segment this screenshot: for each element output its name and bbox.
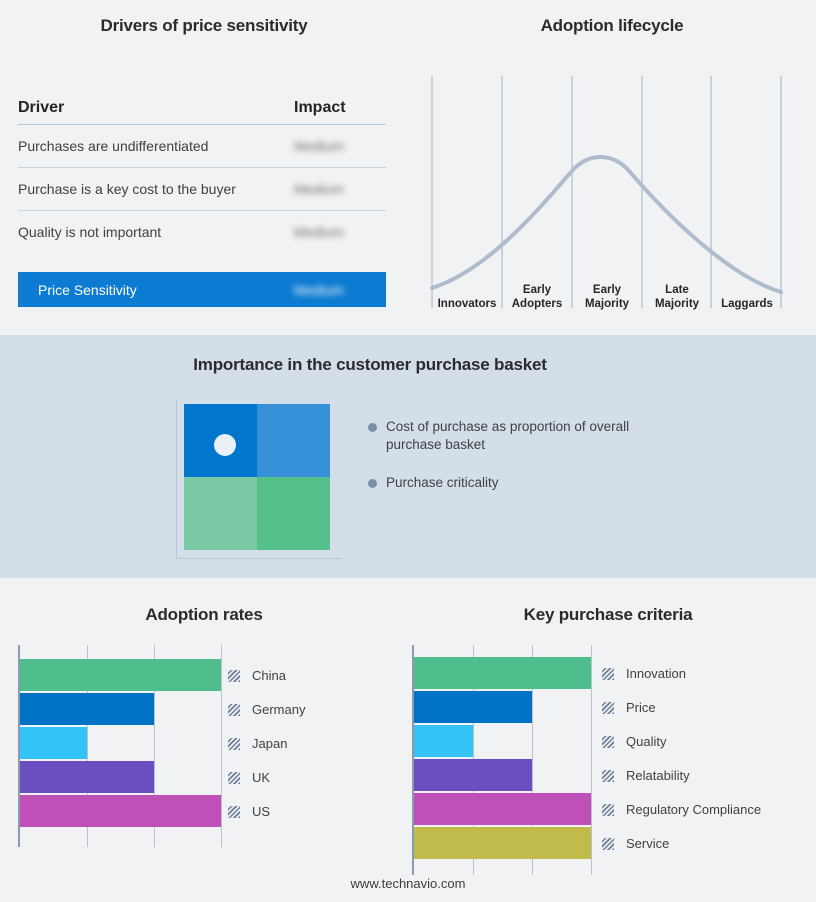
hatched-swatch-icon: [228, 670, 240, 682]
stage-line-2: Innovators: [432, 298, 502, 312]
lifecycle-stage-labels: Innovators Early Adopters Early Majority…: [432, 278, 782, 312]
bullet-dot-icon: [368, 423, 377, 432]
table-row: Purchase is a key cost to the buyer Medi…: [18, 168, 386, 211]
legend-item-label: Germany: [252, 702, 305, 717]
legend-item-label: Regulatory Compliance: [626, 802, 761, 817]
highlight-row-label: Price Sensitivity: [18, 282, 294, 298]
legend-item: Japan: [228, 736, 287, 751]
key-purchase-criteria-chart: InnovationPriceQualityRelatabilityRegula…: [412, 645, 812, 860]
legend-item-label: Quality: [626, 734, 666, 749]
key-purchase-criteria-title: Key purchase criteria: [400, 605, 816, 625]
chart-bar: [414, 827, 591, 859]
matrix-quadrant-bottom-left: [184, 477, 257, 550]
lifecycle-gridlines: [432, 76, 781, 308]
table-row: Quality is not important Medium: [18, 211, 386, 253]
legend-item: Purchase criticality: [368, 474, 658, 492]
legend-item-label: Relatability: [626, 768, 690, 783]
matrix-quadrant-grid: [184, 404, 330, 550]
adoption-rates-plot-area: [18, 645, 220, 860]
hatched-swatch-icon: [602, 736, 614, 748]
highlight-row-impact: Medium: [294, 282, 386, 298]
impact-value: Medium: [294, 224, 386, 240]
stage-line-2: Majority: [642, 298, 712, 312]
adoption-lifecycle-curve-chart: [408, 60, 816, 315]
chart-bar: [414, 657, 591, 689]
lifecycle-stage-early-adopters: Early Adopters: [502, 278, 572, 312]
bullet-dot-icon: [368, 479, 377, 488]
legend-item: Service: [602, 836, 669, 851]
chart-bar: [414, 691, 532, 723]
legend-item-label: China: [252, 668, 286, 683]
driver-label: Quality is not important: [18, 224, 294, 240]
legend-item: China: [228, 668, 286, 683]
legend-item-label: Service: [626, 836, 669, 851]
driver-label: Purchase is a key cost to the buyer: [18, 181, 294, 197]
matrix-position-marker: [214, 434, 236, 456]
hatched-swatch-icon: [228, 704, 240, 716]
footer-url: www.technavio.com: [0, 876, 816, 891]
legend-item-label: Innovation: [626, 666, 686, 681]
stage-line-2: Adopters: [502, 298, 572, 312]
stage-line-1: Early: [572, 284, 642, 298]
legend-item-label: Price: [626, 700, 656, 715]
chart-gridline: [221, 645, 222, 847]
lifecycle-stage-laggards: Laggards: [712, 278, 782, 312]
legend-item: Relatability: [602, 768, 690, 783]
table-row: Purchases are undifferentiated Medium: [18, 125, 386, 168]
stage-line-1: Early: [502, 284, 572, 298]
matrix-x-axis: [176, 558, 342, 559]
lifecycle-panel-title: Adoption lifecycle: [408, 16, 816, 36]
bell-curve-path: [432, 157, 781, 292]
driver-label: Purchases are undifferentiated: [18, 138, 294, 154]
chart-bar: [414, 725, 473, 757]
impact-value: Medium: [294, 181, 386, 197]
chart-bar: [20, 795, 221, 827]
infographic-page: Drivers of price sensitivity Driver Impa…: [0, 0, 816, 902]
matrix-quadrant-top-right: [257, 404, 330, 477]
matrix-quadrant-bottom-right: [257, 477, 330, 550]
legend-item: Price: [602, 700, 656, 715]
chart-bar: [20, 693, 154, 725]
legend-item-label: US: [252, 804, 270, 819]
chart-bar: [20, 761, 154, 793]
stage-line-2: Laggards: [712, 298, 782, 312]
legend-item: Innovation: [602, 666, 686, 681]
hatched-swatch-icon: [602, 702, 614, 714]
hatched-swatch-icon: [602, 770, 614, 782]
impact-value: Medium: [294, 138, 386, 154]
table-header-row: Driver Impact: [18, 92, 386, 125]
legend-item-label: Purchase criticality: [386, 474, 499, 492]
lifecycle-stage-late-majority: Late Majority: [642, 278, 712, 312]
hatched-swatch-icon: [602, 804, 614, 816]
legend-item: Quality: [602, 734, 666, 749]
key-purchase-criteria-plot-area: [412, 645, 592, 860]
matrix-panel-title: Importance in the customer purchase bask…: [0, 355, 740, 375]
legend-item: Regulatory Compliance: [602, 802, 761, 817]
chart-bar: [20, 727, 87, 759]
column-header-driver: Driver: [18, 99, 294, 117]
price-sensitivity-highlight-row: Price Sensitivity Medium: [18, 272, 386, 307]
chart-bar: [20, 659, 221, 691]
hatched-swatch-icon: [228, 806, 240, 818]
stage-line-1: Late: [642, 284, 712, 298]
chart-bar: [414, 793, 591, 825]
legend-item: US: [228, 804, 270, 819]
legend-item: Germany: [228, 702, 305, 717]
hatched-swatch-icon: [228, 738, 240, 750]
legend-item: Cost of purchase as proportion of overal…: [368, 418, 658, 454]
drivers-panel-title: Drivers of price sensitivity: [0, 16, 408, 36]
legend-item-label: Cost of purchase as proportion of overal…: [386, 418, 658, 454]
lifecycle-stage-early-majority: Early Majority: [572, 278, 642, 312]
hatched-swatch-icon: [602, 668, 614, 680]
matrix-legend: Cost of purchase as proportion of overal…: [368, 418, 658, 512]
stage-line-2: Majority: [572, 298, 642, 312]
legend-item: UK: [228, 770, 270, 785]
hatched-swatch-icon: [602, 838, 614, 850]
lifecycle-stage-innovators: Innovators: [432, 278, 502, 312]
adoption-rates-title: Adoption rates: [0, 605, 408, 625]
chart-gridline: [591, 645, 592, 875]
drivers-table: Driver Impact Purchases are undifferenti…: [18, 92, 386, 253]
adoption-rates-chart: ChinaGermanyJapanUKUS: [18, 645, 408, 860]
legend-item-label: UK: [252, 770, 270, 785]
column-header-impact: Impact: [294, 99, 386, 117]
chart-bar: [414, 759, 532, 791]
matrix-y-axis: [176, 400, 177, 558]
legend-item-label: Japan: [252, 736, 287, 751]
purchase-basket-matrix: [184, 404, 330, 550]
hatched-swatch-icon: [228, 772, 240, 784]
